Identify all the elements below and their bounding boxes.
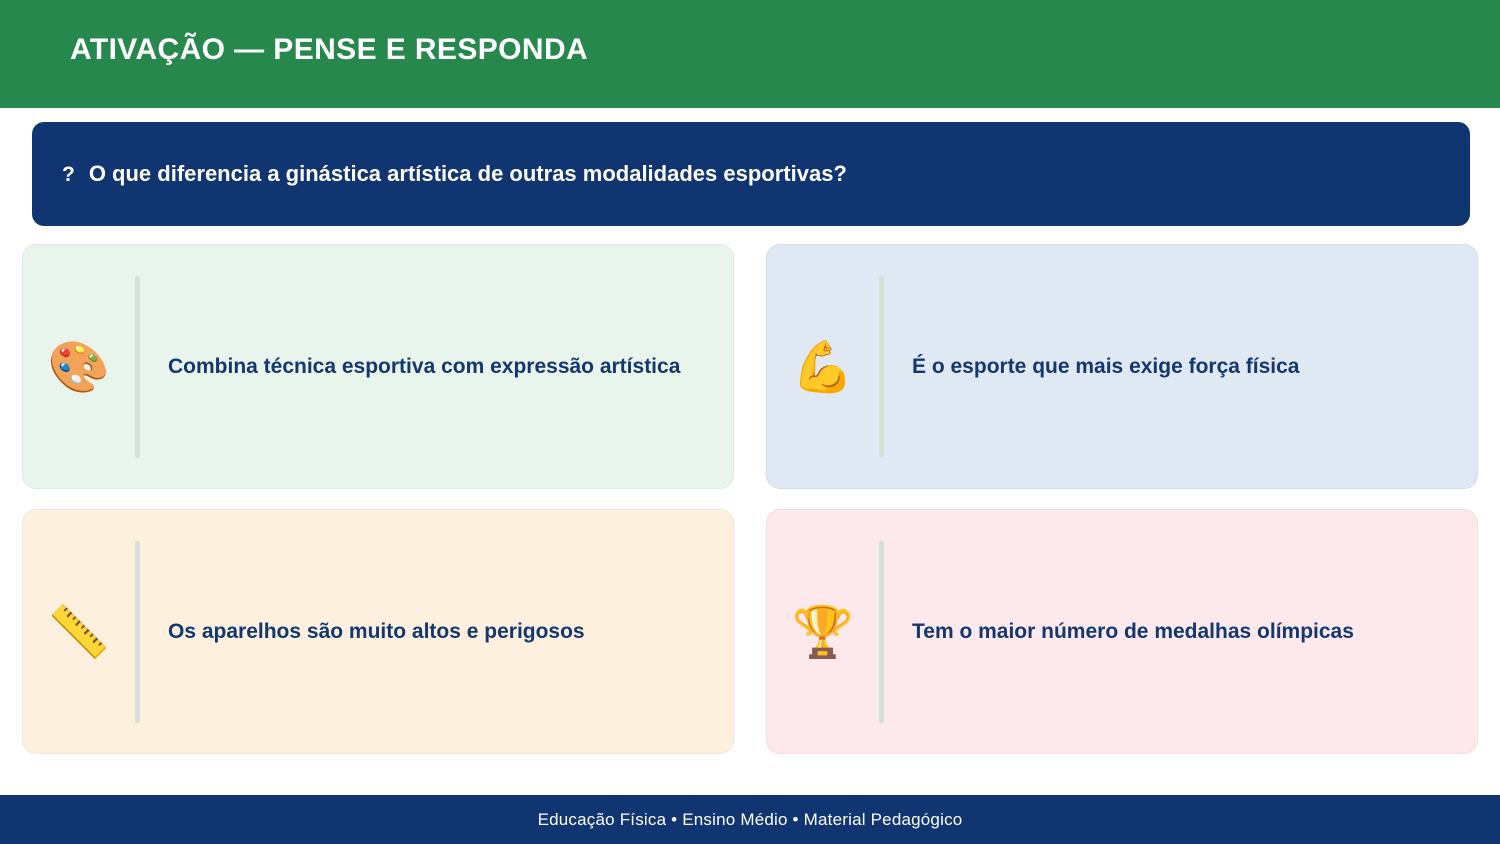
card-divider [879,276,884,458]
option-label-3: Os aparelhos são muito altos e perigosos [168,617,585,647]
footer-text: Educação Física • Ensino Médio • Materia… [538,810,963,830]
option-label-2: É o esporte que mais exige força física [912,352,1300,382]
options-grid: 🎨 Combina técnica esportiva com expressã… [22,244,1478,754]
header-bar: ATIVAÇÃO — PENSE E RESPONDA [0,0,1500,108]
option-card-3[interactable]: 📏 Os aparelhos são muito altos e perigos… [22,509,734,754]
question-mark-icon: ? [62,164,75,185]
card-divider [135,276,140,458]
footer-bar: Educação Física • Ensino Médio • Materia… [0,795,1500,844]
option-label-4: Tem o maior número de medalhas olímpicas [912,617,1354,647]
option-label-1: Combina técnica esportiva com expressão … [168,352,680,382]
card-divider [879,541,884,723]
trophy-icon: 🏆 [767,607,879,657]
flexed-biceps-icon: 💪 [767,342,879,392]
option-card-2[interactable]: 💪 É o esporte que mais exige força físic… [766,244,1478,489]
straight-ruler-icon: 📏 [23,607,135,657]
option-card-1[interactable]: 🎨 Combina técnica esportiva com expressã… [22,244,734,489]
question-text: O que diferencia a ginástica artística d… [89,160,847,188]
card-divider [135,541,140,723]
option-card-4[interactable]: 🏆 Tem o maior número de medalhas olímpic… [766,509,1478,754]
palette-icon: 🎨 [23,342,135,392]
question-banner: ? O que diferencia a ginástica artística… [32,122,1470,226]
page-title: ATIVAÇÃO — PENSE E RESPONDA [70,33,588,67]
